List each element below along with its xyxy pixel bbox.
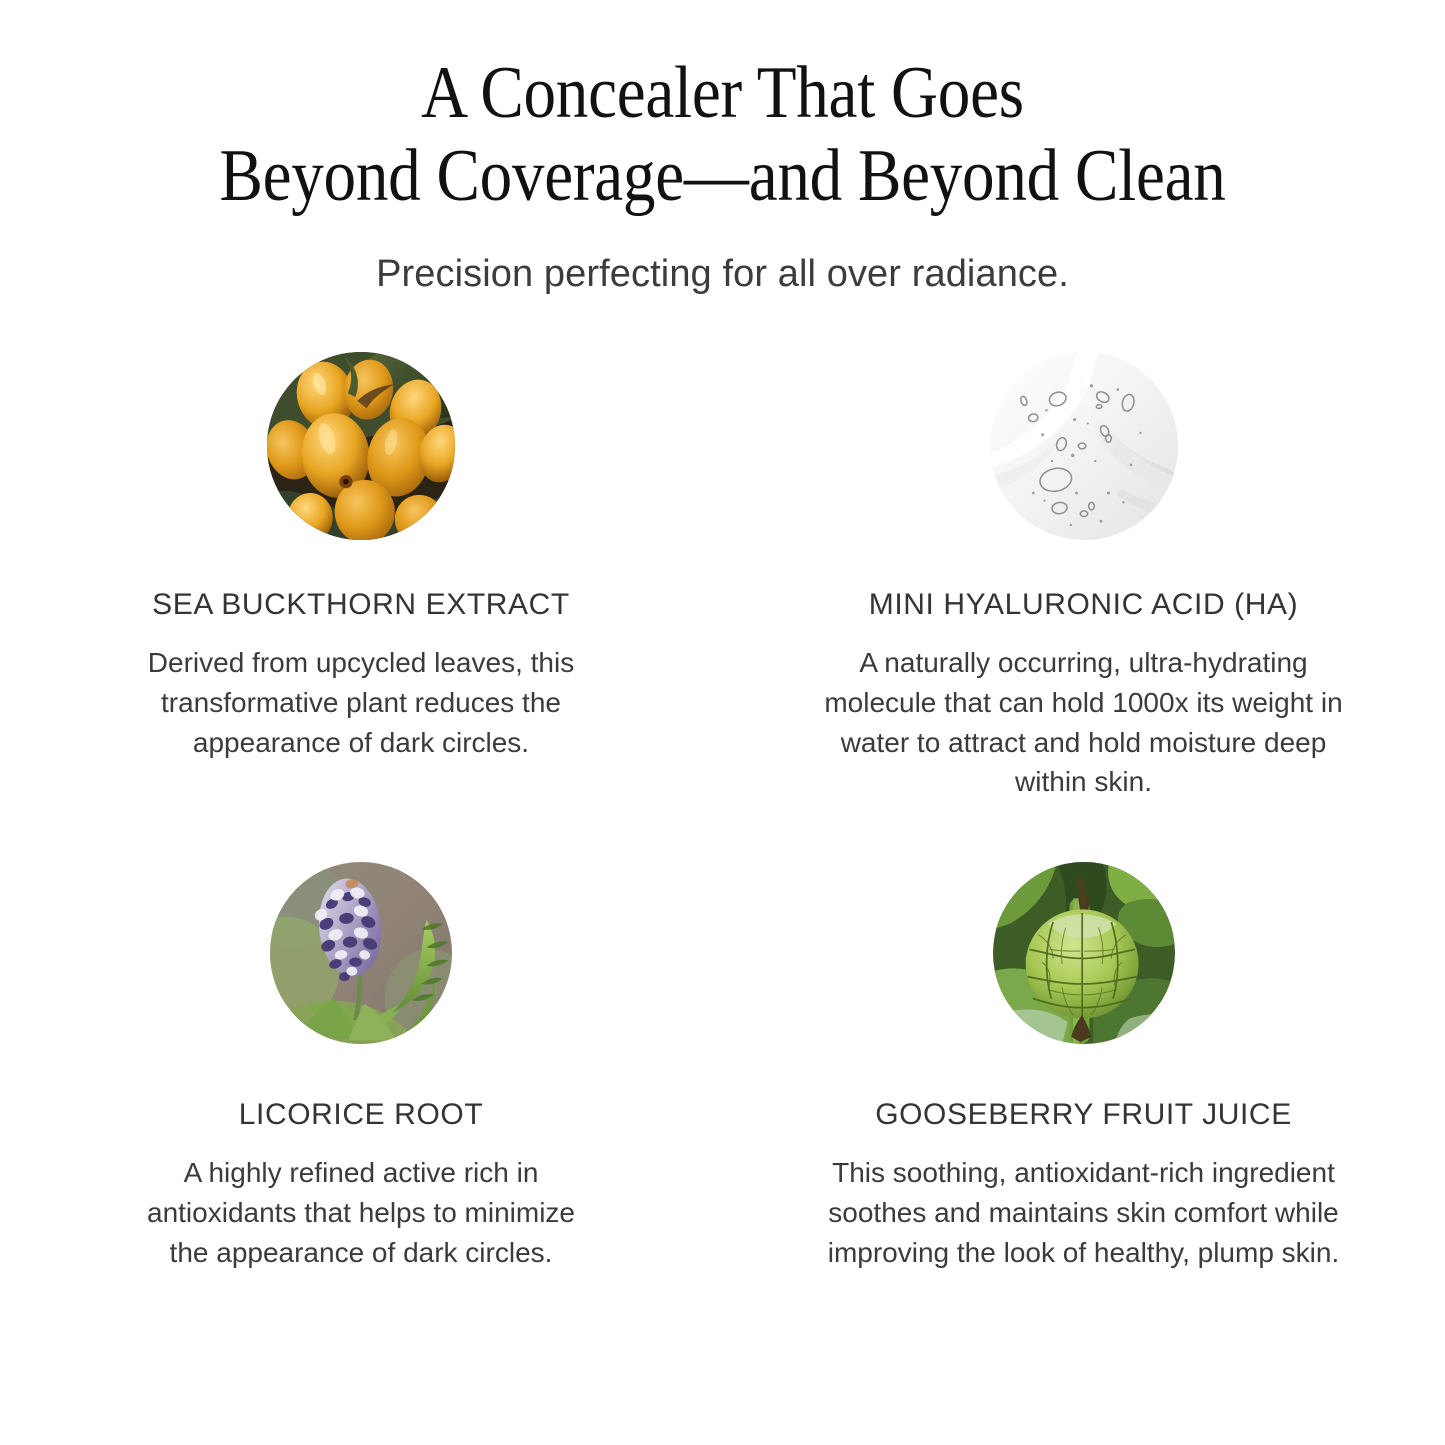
gooseberry-husk-photo — [993, 862, 1175, 1044]
page-subtitle: Precision perfecting for all over radian… — [0, 218, 1445, 298]
header: A Concealer That Goes Beyond Coverage—an… — [0, 52, 1445, 297]
ingredient-title: MINI HYALURONIC ACID (HA) — [722, 540, 1445, 621]
sea-buckthorn-berries-photo — [267, 352, 455, 540]
card-body: SEA BUCKTHORN EXTRACT Derived from upcyc… — [0, 540, 722, 762]
ingredient-title: SEA BUCKTHORN EXTRACT — [0, 540, 722, 621]
card-body: GOOSEBERRY FRUIT JUICE This soothing, an… — [722, 1044, 1445, 1272]
ingredient-description: A highly refined active rich in antioxid… — [126, 1131, 596, 1272]
hyaluronic-acid-gel-texture-photo — [990, 352, 1178, 540]
ingredients-grid: SEA BUCKTHORN EXTRACT Derived from upcyc… — [0, 352, 1445, 1272]
infographic-page: A Concealer That Goes Beyond Coverage—an… — [0, 0, 1445, 1445]
ingredient-description: Derived from upcycled leaves, this trans… — [126, 621, 596, 762]
ingredient-card-licorice-root: LICORICE ROOT A highly refined active ri… — [0, 862, 722, 1272]
ingredient-card-gooseberry: GOOSEBERRY FRUIT JUICE This soothing, an… — [722, 862, 1445, 1272]
card-body: MINI HYALURONIC ACID (HA) A naturally oc… — [722, 540, 1445, 802]
ingredient-card-hyaluronic-acid: MINI HYALURONIC ACID (HA) A naturally oc… — [722, 352, 1445, 862]
page-title: A Concealer That Goes Beyond Coverage—an… — [87, 52, 1359, 218]
ingredient-title: LICORICE ROOT — [0, 1044, 722, 1131]
ingredient-title: GOOSEBERRY FRUIT JUICE — [722, 1044, 1445, 1131]
headline-line-1: A Concealer That Goes — [87, 52, 1359, 135]
ingredient-card-sea-buckthorn: SEA BUCKTHORN EXTRACT Derived from upcyc… — [0, 352, 722, 862]
card-body: LICORICE ROOT A highly refined active ri… — [0, 1044, 722, 1272]
headline-line-2: Beyond Coverage—and Beyond Clean — [87, 135, 1359, 218]
ingredient-description: A naturally occurring, ultra-hydrating m… — [824, 621, 1344, 802]
ingredient-description: This soothing, antioxidant-rich ingredie… — [824, 1131, 1344, 1272]
licorice-root-flower-photo — [270, 862, 452, 1044]
